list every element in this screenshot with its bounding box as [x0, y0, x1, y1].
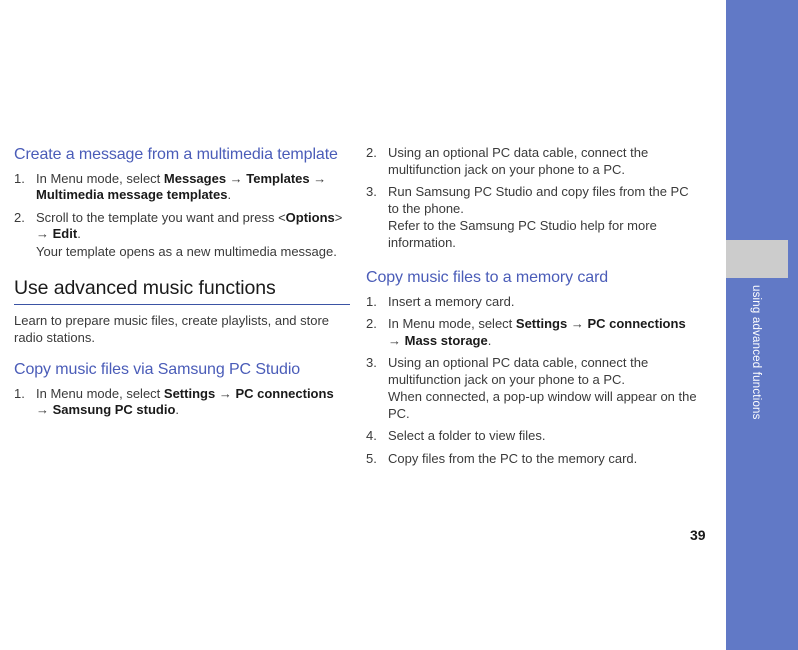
step-number: 5. [366, 451, 384, 468]
arrow-icon: → [226, 171, 246, 186]
step-text: Copy files from the PC to the memory car… [388, 451, 637, 466]
menu-item-samsung-pc-studio: Samsung PC studio [53, 402, 176, 417]
step-text-suffix: . [227, 187, 231, 202]
spacer [14, 305, 350, 313]
steps-memory-card: 1. Insert a memory card. 2. In Menu mode… [366, 294, 702, 468]
list-item: 1. In Menu mode, select Messages → Templ… [14, 171, 350, 204]
chapter-tab-label: using advanced functions [726, 285, 762, 585]
menu-item-pc-connections: PC connections [235, 386, 333, 401]
step-text: Insert a memory card. [388, 294, 514, 309]
steps-pc-studio-continued: 2. Using an optional PC data cable, conn… [366, 145, 702, 251]
heading-use-advanced-music-functions: Use advanced music functions [14, 277, 350, 305]
menu-item-settings: Settings [164, 386, 215, 401]
manual-page: Create a message from a multimedia templ… [0, 0, 798, 650]
step-text-prefix: Scroll to the template you want and pres… [36, 210, 286, 225]
heading-create-message-multimedia-template: Create a message from a multimedia templ… [14, 145, 350, 165]
arrow-icon: → [36, 402, 53, 417]
step-text-suffix: . [488, 333, 492, 348]
left-column: Create a message from a multimedia templ… [14, 145, 350, 419]
step-note: When connected, a pop-up window will app… [388, 389, 702, 422]
list-item: 5. Copy files from the PC to the memory … [366, 451, 702, 468]
step-note: Refer to the Samsung PC Studio help for … [388, 218, 702, 251]
step-text: In Menu mode, select Messages → Template… [36, 171, 326, 203]
menu-item-settings: Settings [516, 316, 567, 331]
heading-copy-music-to-memory-card: Copy music files to a memory card [366, 268, 702, 288]
step-text: In Menu mode, select Settings → PC conne… [36, 386, 334, 418]
menu-item-edit: Edit [53, 226, 78, 241]
step-text: Scroll to the template you want and pres… [36, 210, 342, 242]
step-number: 4. [366, 428, 384, 445]
step-text: In Menu mode, select Settings → PC conne… [388, 316, 686, 348]
step-text-prefix: In Menu mode, select [388, 316, 516, 331]
chapter-tab-marker [726, 240, 788, 278]
menu-item-multimedia-message-templates: Multimedia message templates [36, 187, 227, 202]
arrow-icon: → [567, 316, 587, 331]
step-text: Select a folder to view files. [388, 428, 546, 443]
step-text-prefix: In Menu mode, select [36, 171, 164, 186]
list-item: 3. Run Samsung PC Studio and copy files … [366, 184, 702, 251]
arrow-icon: → [388, 333, 405, 348]
intro-paragraph: Learn to prepare music files, create pla… [14, 313, 350, 346]
step-text: Run Samsung PC Studio and copy files fro… [388, 184, 689, 216]
softkey-options: Options [286, 210, 335, 225]
step-text: Using an optional PC data cable, connect… [388, 355, 648, 387]
step-number: 1. [14, 386, 32, 403]
step-number: 3. [366, 184, 384, 201]
menu-item-pc-connections: PC connections [587, 316, 685, 331]
arrow-icon: → [215, 386, 235, 401]
list-item: 4. Select a folder to view files. [366, 428, 702, 445]
step-number: 2. [14, 210, 32, 227]
step-text-suffix: . [175, 402, 179, 417]
step-note: Your template opens as a new multimedia … [36, 244, 350, 261]
list-item: 2. Using an optional PC data cable, conn… [366, 145, 702, 178]
list-item: 2. In Menu mode, select Settings → PC co… [366, 316, 702, 349]
step-number: 2. [366, 316, 384, 333]
steps-pc-studio: 1. In Menu mode, select Settings → PC co… [14, 386, 350, 419]
step-text-suffix: . [77, 226, 81, 241]
arrow-icon: → [310, 171, 327, 186]
page-number: 39 [690, 527, 706, 543]
right-column: 2. Using an optional PC data cable, conn… [366, 145, 702, 467]
step-text: Using an optional PC data cable, connect… [388, 145, 648, 177]
menu-item-templates: Templates [246, 171, 309, 186]
list-item: 3. Using an optional PC data cable, conn… [366, 355, 702, 422]
menu-item-messages: Messages [164, 171, 226, 186]
list-item: 1. Insert a memory card. [366, 294, 702, 311]
menu-item-mass-storage: Mass storage [405, 333, 488, 348]
list-item: 2. Scroll to the template you want and p… [14, 210, 350, 261]
spacer [14, 346, 350, 360]
spacer [14, 260, 350, 277]
spacer [366, 251, 702, 268]
step-number: 1. [366, 294, 384, 311]
chapter-tab-bar: using advanced functions [726, 0, 798, 650]
list-item: 1. In Menu mode, select Settings → PC co… [14, 386, 350, 419]
step-text-prefix: In Menu mode, select [36, 386, 164, 401]
heading-copy-music-via-pc-studio: Copy music files via Samsung PC Studio [14, 360, 350, 380]
step-number: 3. [366, 355, 384, 372]
step-number: 1. [14, 171, 32, 188]
step-number: 2. [366, 145, 384, 162]
steps-multimedia-template: 1. In Menu mode, select Messages → Templ… [14, 171, 350, 261]
